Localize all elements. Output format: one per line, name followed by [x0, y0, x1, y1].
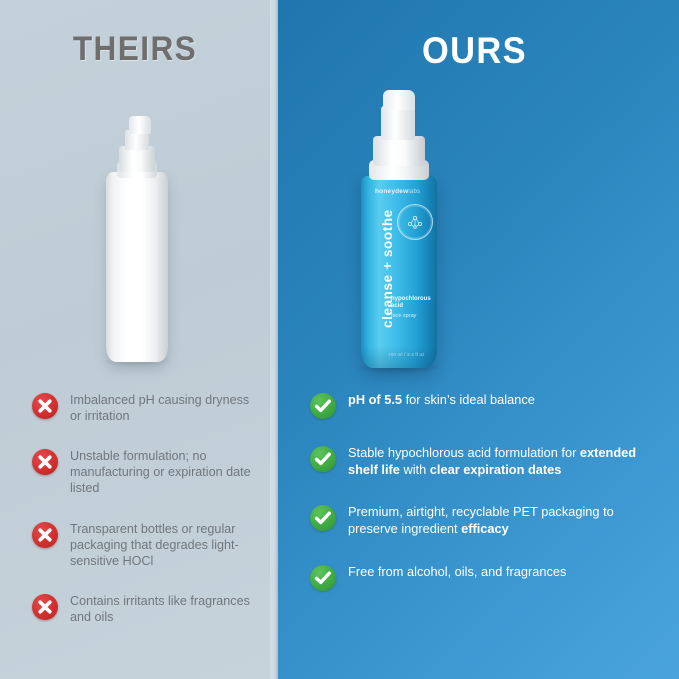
list-item-bold-part: efficacy	[461, 521, 509, 536]
list-item: Premium, airtight, recyclable PET packag…	[310, 504, 665, 537]
brand-text: honeydew	[375, 188, 408, 195]
list-item-label: Unstable formulation; no manufacturing o…	[70, 448, 252, 496]
ours-panel: OURS honeydewlabs cleanse + soo	[270, 0, 679, 679]
x-icon	[32, 522, 58, 548]
panel-divider	[270, 0, 278, 679]
list-item: Transparent bottles or regular packaging…	[32, 521, 252, 569]
blue-bottle-body: honeydewlabs cleanse + soothe hypochloro…	[361, 176, 437, 368]
list-item-plain-part: with	[400, 462, 430, 477]
list-item: pH of 5.5 for skin’s ideal balance	[310, 392, 665, 419]
list-item-label: Transparent bottles or regular packaging…	[70, 521, 252, 569]
list-item: Stable hypochlorous acid formulation for…	[310, 445, 665, 478]
product-comparison-graphic: THEIRS Imbalanced pH causing dryness or …	[0, 0, 679, 679]
bottle-product-type-label: face spray	[391, 313, 435, 319]
list-item-label: pH of 5.5 for skin’s ideal balance	[348, 392, 535, 409]
ours-heading: OURS	[284, 30, 664, 72]
bottle-description: hypochlorous acid face spray	[391, 296, 435, 319]
list-item: Imbalanced pH causing dryness or irritat…	[32, 392, 252, 424]
list-item-bold-part: clear expiration dates	[430, 462, 562, 477]
list-item-label: Premium, airtight, recyclable PET packag…	[348, 504, 665, 537]
theirs-panel: THEIRS Imbalanced pH causing dryness or …	[0, 0, 270, 679]
blue-bottle-neck	[381, 106, 415, 140]
check-icon	[310, 393, 336, 419]
blue-bottle-collar	[373, 136, 425, 166]
theirs-heading: THEIRS	[9, 30, 260, 69]
list-item: Unstable formulation; no manufacturing o…	[32, 448, 252, 496]
list-item-plain-part: Stable hypochlorous acid formulation for	[348, 445, 580, 460]
bottle-volume-label: 100 ml / 3.4 fl oz	[388, 352, 425, 357]
list-item-plain-part: Free from alcohol, oils, and fragrances	[348, 564, 566, 579]
list-item: Contains irritants like fragrances and o…	[32, 593, 252, 625]
list-item-bold-part: pH of 5.5	[348, 392, 402, 407]
bottle-ingredient-label: hypochlorous acid	[391, 296, 435, 310]
bottle-brand-name: honeydewlabs	[375, 188, 420, 195]
theirs-bullet-list: Imbalanced pH causing dryness or irritat…	[0, 392, 270, 649]
list-item-label: Free from alcohol, oils, and fragrances	[348, 564, 566, 581]
list-item-label: Contains irritants like fragrances and o…	[70, 593, 252, 625]
blue-bottle-nozzle	[383, 90, 415, 110]
check-icon	[310, 565, 336, 591]
check-icon	[310, 446, 336, 472]
ours-bullet-list: pH of 5.5 for skin’s ideal balance Stabl…	[270, 392, 679, 617]
check-icon	[310, 505, 336, 531]
white-bottle-body	[106, 172, 168, 362]
x-icon	[32, 393, 58, 419]
our-blue-bottle-image: honeydewlabs cleanse + soothe hypochloro…	[355, 88, 443, 373]
list-item-plain-part: for skin’s ideal balance	[402, 392, 535, 407]
molecule-badge-icon	[397, 204, 433, 240]
list-item-label: Imbalanced pH causing dryness or irritat…	[70, 392, 252, 424]
list-item: Free from alcohol, oils, and fragrances	[310, 564, 665, 591]
competitor-white-bottle-image	[103, 112, 171, 362]
x-icon	[32, 594, 58, 620]
list-item-label: Stable hypochlorous acid formulation for…	[348, 445, 665, 478]
white-bottle-nozzle	[129, 116, 151, 134]
x-icon	[32, 449, 58, 475]
brand-suffix-text: labs	[408, 189, 420, 195]
